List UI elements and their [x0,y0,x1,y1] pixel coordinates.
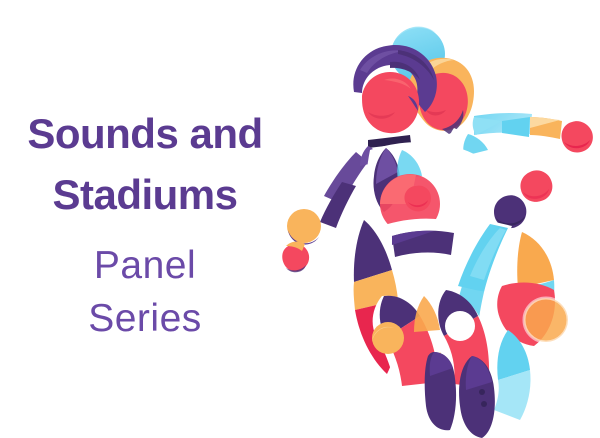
subtitle-line-1: Panel [0,238,290,293]
title-text-block: Sounds and Stadiums Panel Series [0,104,290,346]
knee-circle-orange [372,322,404,354]
knee-circle-white [445,311,475,341]
athlete-front-head [353,45,437,155]
headline-line-2: Stadiums [0,165,290,224]
poster-canvas: Sounds and Stadiums Panel Series [0,0,600,438]
headline-line-1: Sounds and [0,104,290,163]
athletes-illustration-svg [258,0,600,438]
athletes-illustration [258,0,600,438]
subtitle-line-2: Series [0,291,290,346]
front-head-face [362,72,419,133]
left-fist [282,244,309,271]
arm-right [463,113,593,156]
